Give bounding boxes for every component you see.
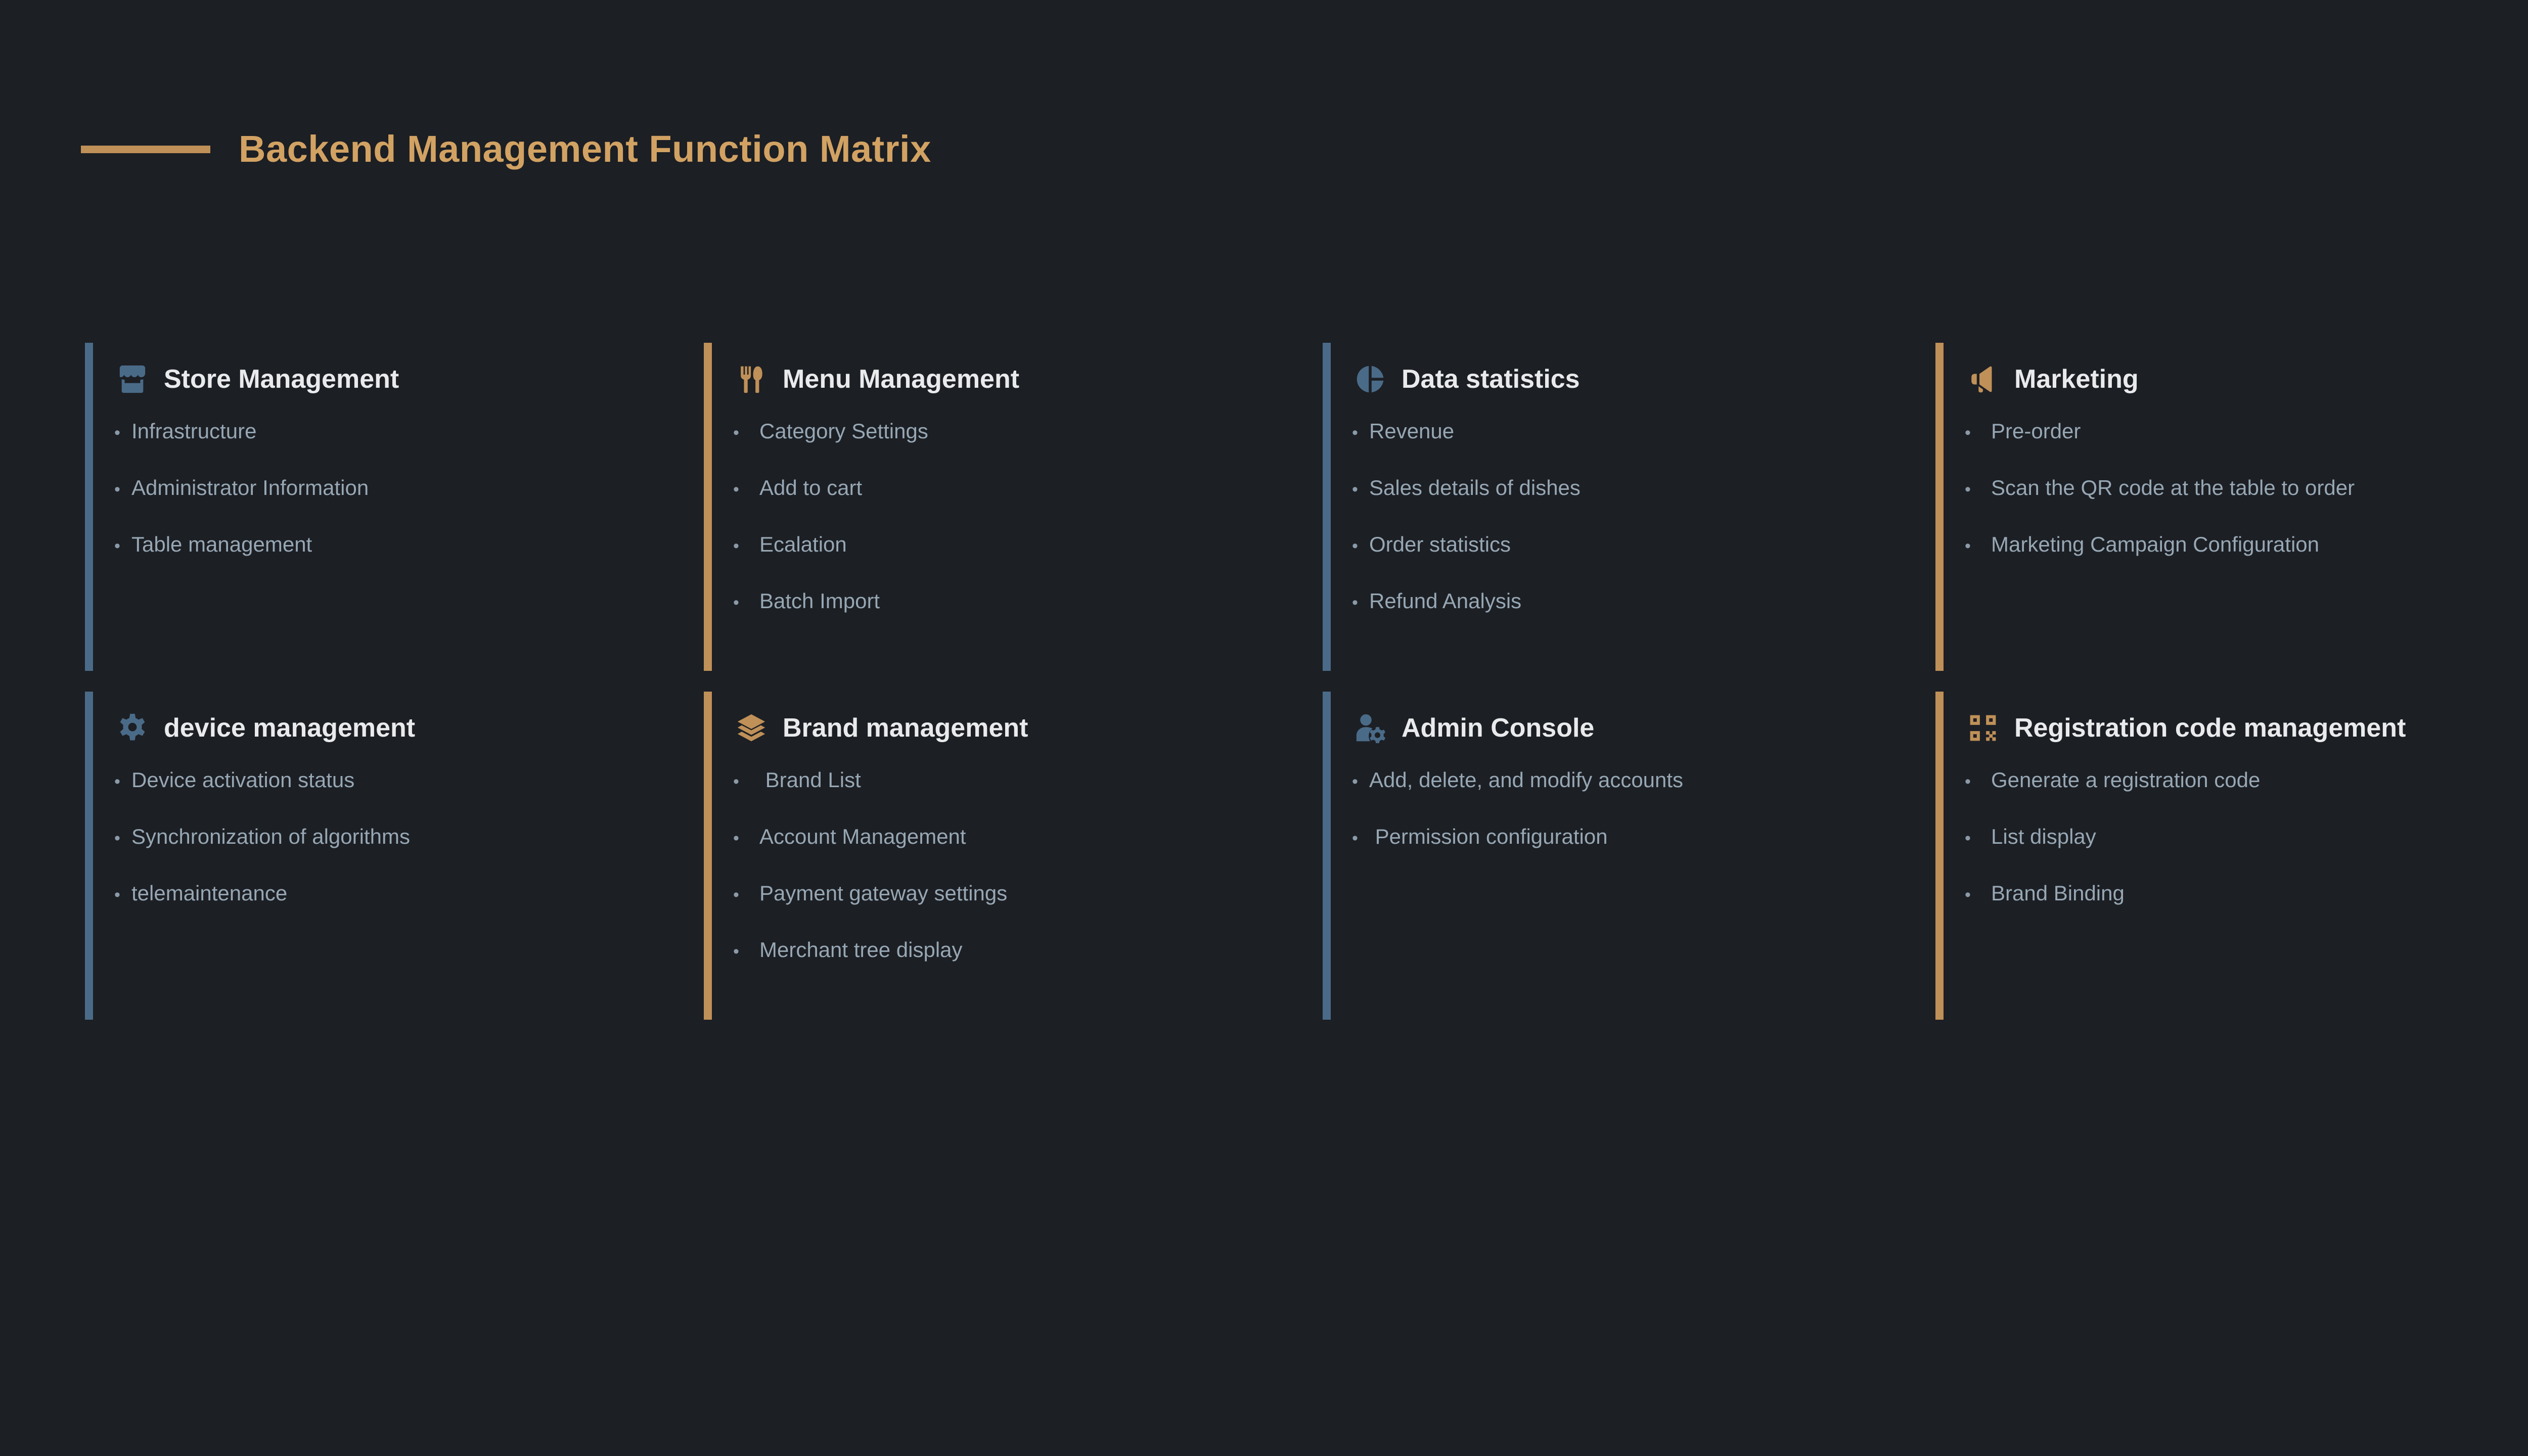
list-item[interactable]: • Payment gateway settings [733,883,1323,939]
list-item[interactable]: • Add to cart [733,477,1323,534]
list-item-label: Brand Binding [1991,883,2125,904]
bullet-icon: • [1965,424,1991,441]
list-item-label: Order statistics [1369,534,1511,555]
card-header: Data statistics [1352,355,1935,403]
list-item-label: Permission configuration [1369,826,1608,847]
bullet-icon: • [1352,481,1369,498]
bullet-icon: • [1352,830,1369,847]
list-item[interactable]: • Marketing Campaign Configuration [1965,534,2507,590]
list-item[interactable]: • Infrastructure [114,421,704,477]
list-item-label: Generate a registration code [1991,769,2260,791]
list-item[interactable]: • Category Settings [733,421,1323,477]
page-title: Backend Management Function Matrix [239,130,931,168]
list-item-label: Infrastructure [131,421,256,442]
card-title: Store Management [164,366,399,392]
card-feature-list: • Device activation status • Synchroniza… [114,769,704,939]
card-header: Menu Management [733,355,1323,403]
list-item-label: Brand List [759,769,861,791]
bullet-icon: • [1965,537,1991,555]
card-accent-bar [1323,692,1331,1020]
list-item-label: Batch Import [759,590,880,612]
card-title: Data statistics [1402,366,1580,392]
card-title: Menu Management [783,366,1019,392]
bullet-icon: • [114,886,131,903]
list-item[interactable]: • Refund Analysis [1352,590,1935,647]
card-accent-bar [1323,343,1331,671]
list-item-label: Category Settings [759,421,928,442]
bullet-icon: • [114,537,131,555]
list-item[interactable]: • Batch Import [733,590,1323,647]
bullet-icon: • [733,537,759,555]
title-rule-decoration [81,146,210,153]
list-item-label: Payment gateway settings [759,883,1007,904]
card-feature-list: • Brand List • Account Management • Paym… [733,769,1323,996]
page-header: Backend Management Function Matrix [81,126,931,172]
list-item[interactable]: • Brand List [733,769,1323,826]
fork-knife-icon [733,361,770,397]
card-header: Store Management [114,355,704,403]
bullet-icon: • [114,773,131,790]
list-item[interactable]: • List display [1965,826,2507,883]
card-menu-management[interactable]: Menu Management • Category Settings • Ad… [704,343,1323,671]
list-item[interactable]: • Add, delete, and modify accounts [1352,769,1935,826]
list-item[interactable]: • Permission configuration [1352,826,1935,883]
card-feature-list: • Infrastructure • Administrator Informa… [114,421,704,590]
card-title: Brand management [783,715,1028,741]
list-item[interactable]: • Generate a registration code [1965,769,2507,826]
list-item[interactable]: • Brand Binding [1965,883,2507,939]
bullet-icon: • [733,830,759,847]
list-item-label: Add, delete, and modify accounts [1369,769,1683,791]
card-title: Registration code management [2014,715,2406,741]
list-item[interactable]: • Revenue [1352,421,1935,477]
card-header: device management [114,704,704,752]
card-header: Registration code management [1965,704,2507,752]
list-item[interactable]: • telemaintenance [114,883,704,939]
card-header: Marketing [1965,355,2507,403]
megaphone-icon [1965,361,2001,397]
function-matrix-grid: Store Management • Infrastructure • Admi… [85,343,2507,1020]
bullet-icon: • [114,830,131,847]
card-feature-list: • Category Settings • Add to cart • Ecal… [733,421,1323,647]
list-item-label: Administrator Information [131,477,369,498]
card-header: Admin Console [1352,704,1935,752]
list-item[interactable]: • Merchant tree display [733,939,1323,996]
qr-code-icon [1965,710,2001,746]
card-feature-list: • Pre-order • Scan the QR code at the ta… [1965,421,2507,590]
list-item-label: List display [1991,826,2096,847]
card-title: Admin Console [1402,715,1594,741]
bullet-icon: • [114,481,131,498]
storefront-icon [114,361,151,397]
list-item-label: Merchant tree display [759,939,963,961]
list-item-label: Refund Analysis [1369,590,1521,612]
card-accent-bar [85,343,93,671]
list-item-label: Marketing Campaign Configuration [1991,534,2319,555]
list-item-label: Table management [131,534,312,555]
bullet-icon: • [1965,773,1991,790]
list-item[interactable]: • Device activation status [114,769,704,826]
list-item-label: Account Management [759,826,966,847]
bullet-icon: • [733,886,759,903]
card-accent-bar [1935,692,1944,1020]
gear-icon [114,710,151,746]
list-item-label: telemaintenance [131,883,287,904]
bullet-icon: • [1352,594,1369,611]
card-title: device management [164,715,415,741]
list-item[interactable]: • Account Management [733,826,1323,883]
card-store-management[interactable]: Store Management • Infrastructure • Admi… [85,343,704,671]
bullet-icon: • [1352,424,1369,441]
pie-chart-icon [1352,361,1388,397]
list-item-label: Sales details of dishes [1369,477,1581,498]
card-accent-bar [1935,343,1944,671]
bullet-icon: • [1352,773,1369,790]
list-item[interactable]: • Administrator Information [114,477,704,534]
card-marketing[interactable]: Marketing • Pre-order • Scan the QR code… [1935,343,2507,671]
card-header: Brand management [733,704,1323,752]
list-item-label: Add to cart [759,477,862,498]
bullet-icon: • [733,943,759,960]
card-admin-console[interactable]: Admin Console • Add, delete, and modify … [1323,692,1935,1020]
card-accent-bar [85,692,93,1020]
list-item[interactable]: • Pre-order [1965,421,2507,477]
card-accent-bar [704,692,712,1020]
user-gear-icon [1352,710,1388,746]
card-accent-bar [704,343,712,671]
card-brand-management[interactable]: Brand management • Brand List • Account … [704,692,1323,1020]
card-title: Marketing [2014,366,2139,392]
list-item[interactable]: • Order statistics [1352,534,1935,590]
bullet-icon: • [733,424,759,441]
bullet-icon: • [1965,830,1991,847]
bullet-icon: • [1965,886,1991,903]
list-item-label: Ecalation [759,534,847,555]
bullet-icon: • [1352,537,1369,555]
list-item-label: Scan the QR code at the table to order [1991,477,2355,498]
list-item-label: Pre-order [1991,421,2081,442]
bullet-icon: • [1965,481,1991,498]
list-item[interactable]: • Scan the QR code at the table to order [1965,477,2507,534]
card-feature-list: • Generate a registration code • List di… [1965,769,2507,939]
list-item-label: Device activation status [131,769,354,791]
layers-icon [733,710,770,746]
bullet-icon: • [733,773,759,790]
list-item[interactable]: • Table management [114,534,704,590]
list-item[interactable]: • Ecalation [733,534,1323,590]
card-feature-list: • Revenue • Sales details of dishes • Or… [1352,421,1935,647]
list-item[interactable]: • Sales details of dishes [1352,477,1935,534]
card-device-management[interactable]: device management • Device activation st… [85,692,704,1020]
list-item-label: Synchronization of algorithms [131,826,410,847]
list-item-label: Revenue [1369,421,1454,442]
bullet-icon: • [733,594,759,611]
card-registration-code-management[interactable]: Registration code management • Generate … [1935,692,2507,1020]
card-data-statistics[interactable]: Data statistics • Revenue • Sales detail… [1323,343,1935,671]
bullet-icon: • [733,481,759,498]
list-item[interactable]: • Synchronization of algorithms [114,826,704,883]
bullet-icon: • [114,424,131,441]
card-feature-list: • Add, delete, and modify accounts • Per… [1352,769,1935,883]
